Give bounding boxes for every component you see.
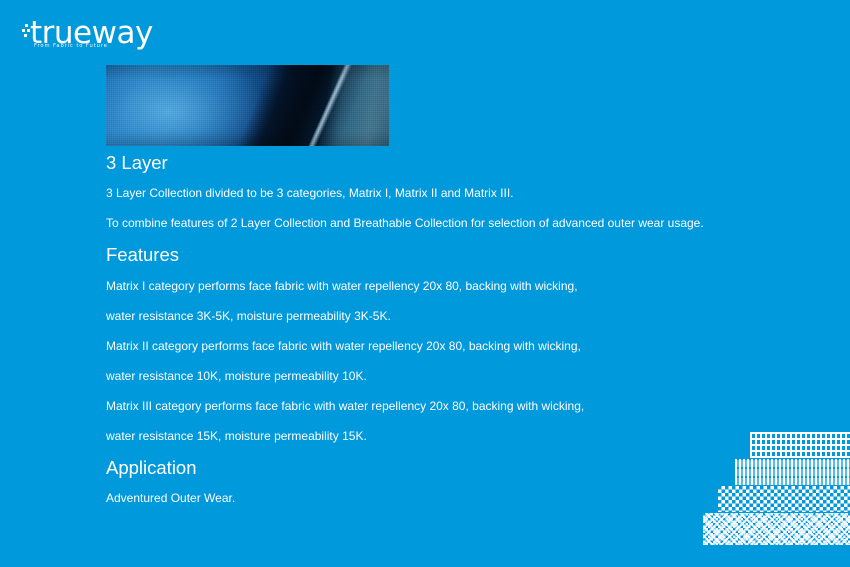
section-heading-application: Application <box>106 457 197 479</box>
section-heading-features: Features <box>106 244 179 266</box>
section-heading-three-layer: 3 Layer <box>106 152 168 174</box>
features-line-1: Matrix I category performs face fabric w… <box>106 278 578 294</box>
checkerboard-band <box>718 486 850 512</box>
three-layer-line-1: 3 Layer Collection divided to be 3 categ… <box>106 185 514 201</box>
dense-weave-band <box>703 513 850 545</box>
features-line-4: water resistance 10K, moisture permeabil… <box>106 368 367 384</box>
features-line-3: Matrix II category performs face fabric … <box>106 338 581 354</box>
logo-tagline: From Fabric to Future <box>34 43 108 49</box>
trueway-logo[interactable]: trueway From Fabric to Future <box>22 20 202 56</box>
vertical-stripe-band <box>735 459 850 485</box>
features-line-5: Matrix III category performs face fabric… <box>106 398 584 414</box>
page-header: trueway From Fabric to Future <box>0 0 850 60</box>
features-line-2: water resistance 3K-5K, moisture permeab… <box>106 308 391 324</box>
three-layer-line-2: To combine features of 2 Layer Collectio… <box>106 215 704 231</box>
features-line-6: water resistance 15K, moisture permeabil… <box>106 428 367 444</box>
hero-vignette <box>106 65 389 146</box>
fine-grid-band <box>750 432 850 458</box>
hero-fabric-image <box>106 65 389 146</box>
application-line-1: Adventured Outer Wear. <box>106 490 235 506</box>
